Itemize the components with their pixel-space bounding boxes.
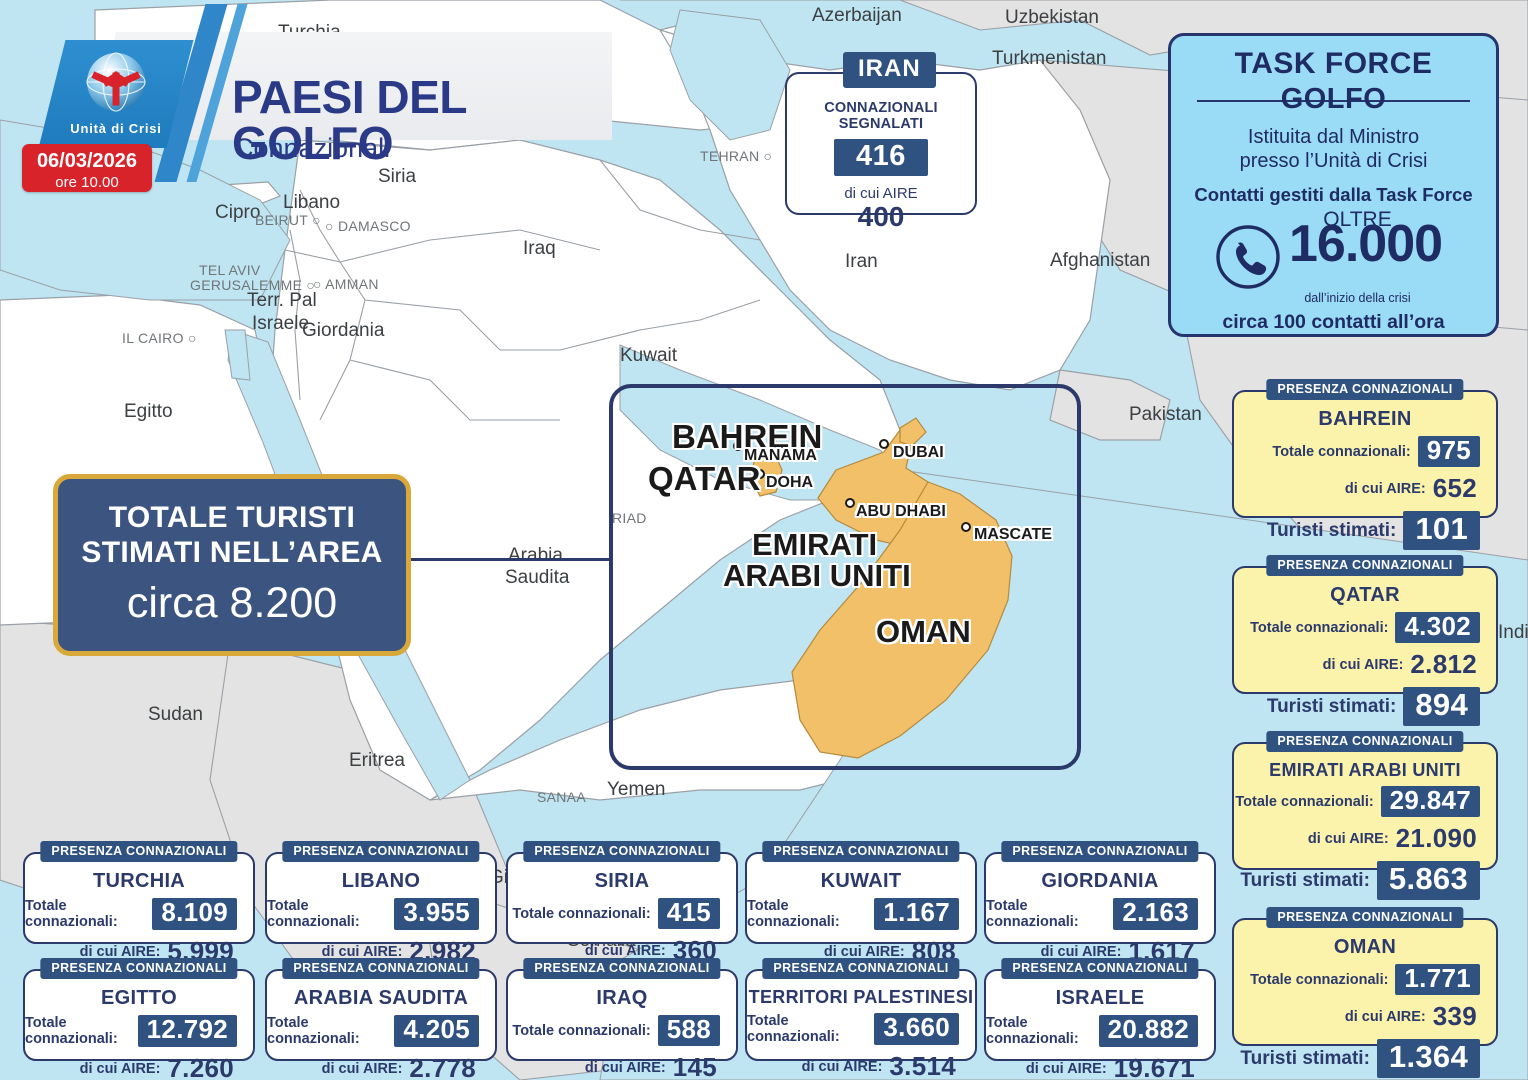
- header-banner: Unità di Crisi PAESI DEL GOLFO Connazion…: [0, 32, 620, 142]
- map-label: Iraq: [523, 238, 556, 260]
- map-label: Yemen: [607, 779, 665, 801]
- map-label: Kuwait: [620, 345, 677, 367]
- map-label: Uzbekistan: [1005, 7, 1099, 29]
- task-force-title-line2: GOLFO: [1171, 85, 1496, 114]
- card-stat-value: 145: [673, 1053, 720, 1082]
- card-stat-value: 21.090: [1396, 824, 1480, 853]
- country-card-turchia: PRESENZA CONNAZIONALITURCHIATotale conna…: [23, 852, 255, 944]
- date-badge: 06/03/2026 ore 10.00: [22, 144, 152, 192]
- task-force-rate: circa 100 contatti all’ora: [1171, 313, 1496, 333]
- card-stat-row: di cui AIRE:21.090: [1234, 824, 1496, 853]
- card-stat-row: Totale connazionali:588: [508, 1015, 736, 1046]
- card-stat-label: Totale connazionali:: [512, 906, 650, 922]
- map-label: IL CAIRO ○: [122, 330, 197, 346]
- card-stat-label: Totale connazionali:: [747, 898, 867, 930]
- card-stat-value: 1.771: [1395, 964, 1480, 995]
- task-force-established: Istituita dal Ministro presso l’Unità di…: [1171, 126, 1496, 173]
- card-stat-row: Totale connazionali:4.205: [267, 1015, 495, 1047]
- card-tag: PRESENZA CONNAZIONALI: [523, 958, 720, 979]
- card-stat-row: Turisti stimati:101: [1234, 511, 1496, 550]
- country-card-bahrein: PRESENZA CONNAZIONALIBAHREINTotale conna…: [1232, 390, 1498, 518]
- card-country-name: TURCHIA: [25, 871, 253, 891]
- card-tag: PRESENZA CONNAZIONALI: [1001, 958, 1198, 979]
- card-stat-value: 588: [658, 1015, 720, 1046]
- card-stat-label: Totale connazionali:: [1250, 972, 1388, 988]
- map-label: Egitto: [124, 401, 173, 423]
- card-stat-value: 339: [1433, 1002, 1480, 1031]
- card-stat-label: Turisti stimati:: [1267, 520, 1397, 542]
- map-label: TEL AVIV: [199, 262, 261, 278]
- card-country-name: GIORDANIA: [986, 871, 1214, 891]
- map-label: Libano: [283, 192, 340, 214]
- card-tag: PRESENZA CONNAZIONALI: [282, 841, 479, 862]
- card-tag: PRESENZA CONNAZIONALI: [1266, 555, 1463, 576]
- tourists-total-value: circa 8.200: [58, 582, 406, 625]
- map-label: Turkmenistan: [992, 48, 1106, 70]
- card-tag: PRESENZA CONNAZIONALI: [40, 958, 237, 979]
- card-stat-label: Turisti stimati:: [1240, 870, 1370, 892]
- card-country-name: QATAR: [1234, 585, 1496, 605]
- card-country-name: EGITTO: [25, 988, 253, 1008]
- card-country-name: SIRIA: [508, 871, 736, 891]
- card-tag: PRESENZA CONNAZIONALI: [1266, 379, 1463, 400]
- tourists-total-label-line1: TOTALE TURISTI: [58, 500, 406, 535]
- card-stat-value: 1.167: [874, 898, 959, 929]
- task-force-contacts-label: Contatti gestiti dalla Task Force: [1171, 186, 1496, 205]
- card-stat-value: 19.671: [1114, 1054, 1198, 1083]
- card-country-name: LIBANO: [267, 871, 495, 891]
- card-stat-value: 101: [1403, 511, 1480, 550]
- unita-di-crisi-logo: Unità di Crisi: [39, 40, 194, 148]
- card-stat-value: 8.109: [152, 898, 237, 929]
- gulf-label-manama: MANAMA: [744, 447, 817, 465]
- task-force-contact-count: 16.000: [1289, 218, 1442, 270]
- card-stat-label: di cui AIRE:: [1026, 1061, 1107, 1077]
- iran-aire-value: 400: [787, 202, 975, 231]
- card-stat-value: 2.778: [409, 1054, 479, 1083]
- card-stat-row: Totale connazionali:20.882: [986, 1015, 1214, 1047]
- card-tag: PRESENZA CONNAZIONALI: [40, 841, 237, 862]
- map-label: Azerbaijan: [812, 5, 902, 27]
- map-label: Terr. Pal: [247, 290, 317, 312]
- card-country-name: EMIRATI ARABI UNITI: [1234, 761, 1496, 779]
- card-stat-label: Totale connazionali:: [747, 1013, 867, 1045]
- card-tag: PRESENZA CONNAZIONALI: [1001, 841, 1198, 862]
- card-tag: PRESENZA CONNAZIONALI: [762, 958, 959, 979]
- card-stat-row: di cui AIRE:652: [1234, 474, 1496, 503]
- map-label: SANAA: [537, 789, 586, 805]
- task-force-panel: TASK FORCE GOLFO Istituita dal Ministro …: [1168, 33, 1499, 337]
- card-stat-value: 2.163: [1113, 898, 1198, 929]
- card-stat-row: Totale connazionali:4.302: [1234, 612, 1496, 643]
- country-card-oman: PRESENZA CONNAZIONALIOMANTotale connazio…: [1232, 918, 1498, 1046]
- card-stat-row: di cui AIRE:339: [1234, 1002, 1496, 1031]
- iran-callout-card: CONNAZIONALI SEGNALATI 416 di cui AIRE 4…: [785, 72, 977, 215]
- map-label: Sudan: [148, 704, 203, 726]
- phone-icon: [1215, 224, 1281, 290]
- tourists-total-card: TOTALE TURISTI STIMATI NELL’AREA circa 8…: [53, 474, 411, 656]
- map-label: ○ DAMASCO: [325, 218, 411, 234]
- card-stat-row: Turisti stimati:5.863: [1234, 861, 1496, 900]
- card-stat-label: Totale connazionali:: [512, 1023, 650, 1039]
- map-label: Arabia: [508, 545, 563, 567]
- date-value: 06/03/2026: [22, 144, 152, 171]
- gulf-label-arabi-uniti: ARABI UNITI: [723, 558, 911, 594]
- card-stat-label: di cui AIRE:: [802, 1059, 883, 1075]
- card-stat-row: Totale connazionali:415: [508, 898, 736, 929]
- card-country-name: BAHREIN: [1234, 409, 1496, 429]
- map-label: Saudita: [505, 567, 569, 589]
- card-stat-row: Totale connazionali:1.167: [747, 898, 975, 930]
- card-stat-label: Totale connazionali:: [1235, 794, 1373, 810]
- card-stat-row: di cui AIRE:2.778: [267, 1054, 495, 1083]
- gulf-label-mascate: MASCATE: [974, 526, 1052, 544]
- gulf-label-abu-dhabi: ABU DHABI: [856, 503, 946, 521]
- card-stat-label: di cui AIRE:: [585, 1060, 666, 1076]
- card-stat-row: di cui AIRE:3.514: [747, 1052, 975, 1081]
- card-stat-row: Turisti stimati:894: [1234, 687, 1496, 726]
- card-stat-row: di cui AIRE:7.260: [25, 1054, 253, 1083]
- tourists-connector-line: [401, 558, 611, 561]
- map-label: Afghanistan: [1050, 250, 1150, 272]
- map-label: Siria: [378, 166, 416, 188]
- card-tag: PRESENZA CONNAZIONALI: [1266, 907, 1463, 928]
- iran-tag: IRAN: [843, 52, 936, 88]
- country-card-territori-palestinesi: PRESENZA CONNAZIONALITERRITORI PALESTINE…: [745, 969, 977, 1061]
- gulf-label-oman: OMAN: [876, 614, 971, 650]
- card-stat-label: di cui AIRE:: [322, 1061, 403, 1077]
- card-stat-value: 3.955: [394, 898, 479, 929]
- card-stat-label: di cui AIRE:: [1323, 657, 1404, 673]
- map-label: Cipro: [215, 202, 260, 224]
- card-stat-value: 894: [1403, 687, 1480, 726]
- card-stat-value: 3.514: [889, 1052, 959, 1081]
- card-stat-row: Totale connazionali:3.660: [747, 1013, 975, 1045]
- card-stat-row: di cui AIRE:2.812: [1234, 650, 1496, 679]
- card-stat-value: 5.863: [1377, 861, 1480, 900]
- card-stat-label: Totale connazionali:: [25, 898, 145, 930]
- map-label: Giordania: [302, 320, 384, 342]
- card-stat-value: 652: [1433, 474, 1480, 503]
- card-stat-value: 7.260: [167, 1054, 237, 1083]
- card-stat-label: Totale connazionali:: [1250, 620, 1388, 636]
- country-card-siria: PRESENZA CONNAZIONALISIRIATotale connazi…: [506, 852, 738, 944]
- tourists-total-label: TOTALE TURISTI STIMATI NELL’AREA: [58, 500, 406, 570]
- map-label: RIAD: [612, 510, 647, 526]
- card-stat-label: Totale connazionali:: [25, 1015, 131, 1047]
- card-stat-row: Turisti stimati:1.364: [1234, 1039, 1496, 1078]
- card-stat-label: Totale connazionali:: [986, 898, 1106, 930]
- map-label: Eritrea: [349, 750, 405, 772]
- iran-reported-value: 416: [834, 139, 928, 176]
- card-stat-label: di cui AIRE:: [1308, 831, 1389, 847]
- card-stat-row: Totale connazionali:12.792: [25, 1015, 253, 1047]
- tourists-total-label-line2: STIMATI NELL’AREA: [58, 535, 406, 570]
- card-country-name: TERRITORI PALESTINESI: [747, 988, 975, 1006]
- card-stat-label: Totale connazionali:: [267, 1015, 387, 1047]
- card-stat-value: 3.660: [874, 1013, 959, 1044]
- card-tag: PRESENZA CONNAZIONALI: [1266, 731, 1463, 752]
- task-force-title-line1: TASK FORCE: [1171, 49, 1496, 79]
- card-stat-row: Totale connazionali:2.163: [986, 898, 1214, 930]
- country-card-giordania: PRESENZA CONNAZIONALIGIORDANIATotale con…: [984, 852, 1216, 944]
- card-stat-value: 2.812: [1410, 650, 1480, 679]
- gulf-label-doha: DOHA: [766, 474, 813, 492]
- infographic-root: TurchiaAzerbaijanUzbekistanTurkmenistanT…: [0, 0, 1528, 1080]
- map-label: Israele: [252, 313, 309, 335]
- card-country-name: ISRAELE: [986, 988, 1214, 1008]
- gulf-label-qatar: QATAR: [648, 460, 760, 498]
- card-stat-label: Totale connazionali:: [1272, 444, 1410, 460]
- task-force-established-line1: Istituita dal Ministro: [1171, 126, 1496, 150]
- map-label: TEHRAN ○: [700, 148, 772, 164]
- map-label: ○ AMMAN: [313, 276, 379, 292]
- country-card-emirati-arabi-uniti: PRESENZA CONNAZIONALIEMIRATI ARABI UNITI…: [1232, 742, 1498, 870]
- iran-aire-label: di cui AIRE: [787, 185, 975, 202]
- country-card-israele: PRESENZA CONNAZIONALIISRAELETotale conna…: [984, 969, 1216, 1061]
- task-force-established-line2: presso l’Unità di Crisi: [1171, 150, 1496, 174]
- country-card-iraq: PRESENZA CONNAZIONALIIRAQTotale connazio…: [506, 969, 738, 1061]
- card-country-name: ARABIA SAUDITA: [267, 988, 495, 1008]
- card-tag: PRESENZA CONNAZIONALI: [523, 841, 720, 862]
- gulf-label-dubai: DUBAI: [893, 444, 944, 462]
- card-tag: PRESENZA CONNAZIONALI: [282, 958, 479, 979]
- card-stat-label: Turisti stimati:: [1240, 1048, 1370, 1070]
- country-card-qatar: PRESENZA CONNAZIONALIQATARTotale connazi…: [1232, 566, 1498, 694]
- card-tag: PRESENZA CONNAZIONALI: [762, 841, 959, 862]
- card-stat-label: di cui AIRE:: [1345, 481, 1426, 497]
- card-stat-value: 20.882: [1099, 1015, 1198, 1046]
- map-label: BEIRUT ○: [255, 212, 321, 228]
- card-stat-row: di cui AIRE:19.671: [986, 1054, 1214, 1083]
- card-stat-label: Turisti stimati:: [1267, 696, 1397, 718]
- globe-icon: [84, 50, 148, 114]
- card-stat-value: 4.205: [394, 1015, 479, 1046]
- card-country-name: IRAQ: [508, 988, 736, 1008]
- card-stat-value: 29.847: [1381, 786, 1480, 817]
- card-stat-value: 1.364: [1377, 1039, 1480, 1078]
- card-stat-row: Totale connazionali:29.847: [1234, 786, 1496, 817]
- card-stat-label: di cui AIRE:: [585, 943, 666, 959]
- page-subtitle: Connazionali: [234, 135, 390, 162]
- card-stat-label: di cui AIRE:: [1345, 1009, 1426, 1025]
- card-stat-row: Totale connazionali:975: [1234, 436, 1496, 467]
- country-card-libano: PRESENZA CONNAZIONALILIBANOTotale connaz…: [265, 852, 497, 944]
- card-stat-row: Totale connazionali:3.955: [267, 898, 495, 930]
- card-stat-row: di cui AIRE:145: [508, 1053, 736, 1082]
- card-stat-value: 12.792: [138, 1015, 237, 1046]
- card-stat-value: 975: [1418, 436, 1480, 467]
- card-stat-label: Totale connazionali:: [267, 898, 387, 930]
- card-stat-label: di cui AIRE:: [80, 1061, 161, 1077]
- card-stat-value: 415: [658, 898, 720, 929]
- country-card-arabia-saudita: PRESENZA CONNAZIONALIARABIA SAUDITATotal…: [265, 969, 497, 1061]
- iran-caption: CONNAZIONALI SEGNALATI: [787, 100, 975, 132]
- card-stat-value: 4.302: [1395, 612, 1480, 643]
- card-stat-row: Totale connazionali:8.109: [25, 898, 253, 930]
- map-label: Pakistan: [1129, 404, 1202, 426]
- card-country-name: KUWAIT: [747, 871, 975, 891]
- map-label: India: [1498, 622, 1528, 644]
- country-card-egitto: PRESENZA CONNAZIONALIEGITTOTotale connaz…: [23, 969, 255, 1061]
- card-stat-row: Totale connazionali:1.771: [1234, 964, 1496, 995]
- card-country-name: OMAN: [1234, 937, 1496, 957]
- country-card-kuwait: PRESENZA CONNAZIONALIKUWAITTotale connaz…: [745, 852, 977, 944]
- time-value: ore 10.00: [22, 171, 152, 190]
- map-label: Iran: [845, 251, 878, 273]
- logo-caption: Unità di Crisi: [52, 121, 180, 136]
- card-stat-label: Totale connazionali:: [986, 1015, 1092, 1047]
